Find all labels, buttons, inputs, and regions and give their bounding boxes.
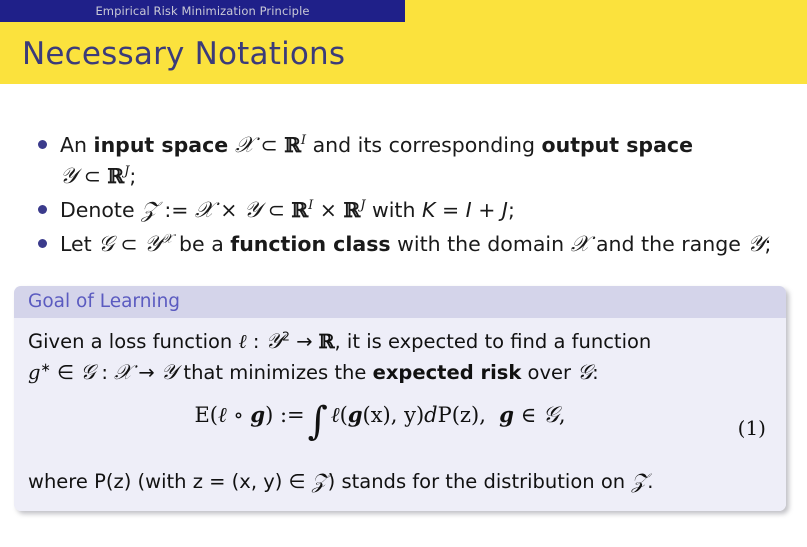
goal-colon-2: : <box>95 361 114 384</box>
goal-block-title: Goal of Learning <box>28 291 180 312</box>
bullet2-R-1: ℝ <box>291 198 308 222</box>
bullet3-with-domain: with the domain <box>391 232 571 256</box>
goal-star: ∗ <box>40 360 50 375</box>
goal-of-learning-block: Goal of Learning Given a loss function ℓ… <box>14 286 786 511</box>
bullet2-K-eq: K = I + J <box>422 198 508 222</box>
bullet-text-input-output-space: An input space 𝒳 ⊂ ℝI and its correspond… <box>60 130 693 192</box>
header-section-label: Empirical Risk Minimization Principle <box>95 4 309 18</box>
goal-line3-g: . <box>647 470 653 493</box>
bullet3-and-range: and the range <box>589 232 747 256</box>
goal-Z-1: 𝒵 <box>312 469 328 493</box>
bullet2-subset: ⊂ <box>261 198 291 222</box>
bullet-dot-icon <box>38 140 47 149</box>
bullet3-domain-X: 𝒳 <box>571 232 590 257</box>
goal-line2-bold: expected risk <box>373 361 522 384</box>
equation-condition: g ∈ 𝒢, <box>486 403 566 427</box>
goal-z-eq: z = (x, y) ∈ <box>193 470 312 493</box>
bullet2-defeq: := <box>158 198 195 222</box>
bullet3-part-2: be a <box>173 232 231 256</box>
list-item: Let 𝒢 ⊂ 𝒴𝒳 be a function class with the … <box>38 229 778 260</box>
bullet2-part-7: ; <box>508 198 515 222</box>
bullet1-subset-2: ⊂ <box>77 164 107 188</box>
bullet-dot-icon <box>38 239 47 248</box>
bullet3-sup-X: 𝒳 <box>161 232 172 247</box>
goal-sup-2: 2 <box>282 329 290 344</box>
goal-line3-e: ) stands for the distribution on <box>328 470 632 493</box>
equation-number: (1) <box>738 416 766 440</box>
integral-icon: ∫ <box>305 399 331 444</box>
bullet2-R-2: ℝ <box>344 198 361 222</box>
goal-Z-2: 𝒵 <box>631 469 647 493</box>
bullet2-Z: 𝒵 <box>141 198 158 223</box>
goal-over: over <box>521 361 577 384</box>
title-band: Necessary Notations <box>0 22 807 84</box>
bullet1-R-2: ℝ <box>107 164 124 188</box>
goal-line1-a: Given a loss function <box>28 330 239 353</box>
bullet3-subset: ⊂ <box>114 232 144 256</box>
bullet1-part-8: ; <box>129 164 136 188</box>
bullet1-part-1: input space <box>94 133 229 157</box>
goal-in-1: ∈ <box>51 361 80 384</box>
goal-line3-c: (with <box>131 470 192 493</box>
goal-line-2: g∗ ∈ 𝒢 : 𝒳 → 𝒴 that minimizes the expect… <box>28 357 772 388</box>
goal-G-2: 𝒢 <box>577 360 592 384</box>
bullet2-Y: 𝒴 <box>244 198 261 223</box>
goal-Y-1: 𝒴 <box>266 329 282 353</box>
bullet1-part-5: output space <box>542 133 693 157</box>
goal-Y-2: 𝒴 <box>161 360 177 384</box>
bullet2-times-2: × <box>313 198 343 222</box>
goal-block-header: Goal of Learning <box>14 286 786 318</box>
goal-X-1: 𝒳 <box>114 360 132 384</box>
bullet2-part-5: with <box>365 198 422 222</box>
goal-arrow-1: → <box>290 330 319 353</box>
bullet1-R-1: ℝ <box>284 133 301 157</box>
equation-integrand: ℓ(g(x), y)dP(z), <box>331 403 486 427</box>
bullet1-part-4: and its corresponding <box>306 133 541 157</box>
bullet-dot-icon <box>38 205 47 214</box>
bullet3-let: Let <box>60 232 98 256</box>
goal-line1-d: , it is expected to find a function <box>335 330 652 353</box>
goal-g-star: g <box>28 361 40 384</box>
goal-line-1: Given a loss function ℓ : 𝒴2 → ℝ, it is … <box>28 326 772 357</box>
list-item: Denote 𝒵 := 𝒳 × 𝒴 ⊂ ℝI × ℝJ with K = I +… <box>38 195 778 226</box>
bullet3-semicolon: ; <box>765 232 772 256</box>
goal-G-1: 𝒢 <box>80 360 95 384</box>
goal-line-3: where P(z) (with z = (x, y) ∈ 𝒵) stands … <box>28 466 772 497</box>
bullet2-times-1: × <box>214 198 244 222</box>
bullet-text-denote-z: Denote 𝒵 := 𝒳 × 𝒴 ⊂ ℝI × ℝJ with K = I +… <box>60 195 515 226</box>
goal-Pz: P(z) <box>94 470 131 493</box>
bullet1-Y: 𝒴 <box>60 164 77 189</box>
equation-content: E(ℓ ∘ g) :=∫ℓ(g(x), y)dP(z), g ∈ 𝒢, <box>28 402 772 433</box>
header-section-active[interactable]: Empirical Risk Minimization Principle <box>0 0 405 22</box>
bullet2-X: 𝒳 <box>195 198 214 223</box>
goal-arrow-2: → <box>132 361 161 384</box>
slide-body: An input space 𝒳 ⊂ ℝI and its correspond… <box>0 84 807 547</box>
page-title: Necessary Notations <box>22 36 345 72</box>
bullet1-part-2: 𝒳 <box>228 133 254 158</box>
bullet2-part-0: Denote <box>60 198 141 222</box>
goal-R-1: ℝ <box>319 330 335 353</box>
bullet1-subset-1: ⊂ <box>254 133 284 157</box>
equation-lhs: E(ℓ ∘ g) := <box>194 403 304 427</box>
bullet-text-function-class: Let 𝒢 ⊂ 𝒴𝒳 be a function class with the … <box>60 229 771 260</box>
header-bar: Empirical Risk Minimization Principle <box>0 0 807 22</box>
goal-ell-1: ℓ <box>239 330 247 353</box>
bullet3-Y: 𝒴 <box>144 232 161 257</box>
bullet3-G: 𝒢 <box>98 232 114 257</box>
bullet3-range-Y: 𝒴 <box>747 232 764 257</box>
goal-colon-3: : <box>592 361 599 384</box>
bullet-list: An input space 𝒳 ⊂ ℝI and its correspond… <box>38 130 778 263</box>
bullet3-part-3: function class <box>230 232 390 256</box>
bullet1-part-0: An <box>60 133 94 157</box>
goal-colon-1: : <box>247 330 266 353</box>
goal-line3-a: where <box>28 470 94 493</box>
display-equation: E(ℓ ∘ g) :=∫ℓ(g(x), y)dP(z), g ∈ 𝒢, (1) <box>28 402 772 454</box>
goal-line2-c: that minimizes the <box>177 361 372 384</box>
list-item: An input space 𝒳 ⊂ ℝI and its correspond… <box>38 130 778 192</box>
goal-block-body: Given a loss function ℓ : 𝒴2 → ℝ, it is … <box>14 318 786 511</box>
